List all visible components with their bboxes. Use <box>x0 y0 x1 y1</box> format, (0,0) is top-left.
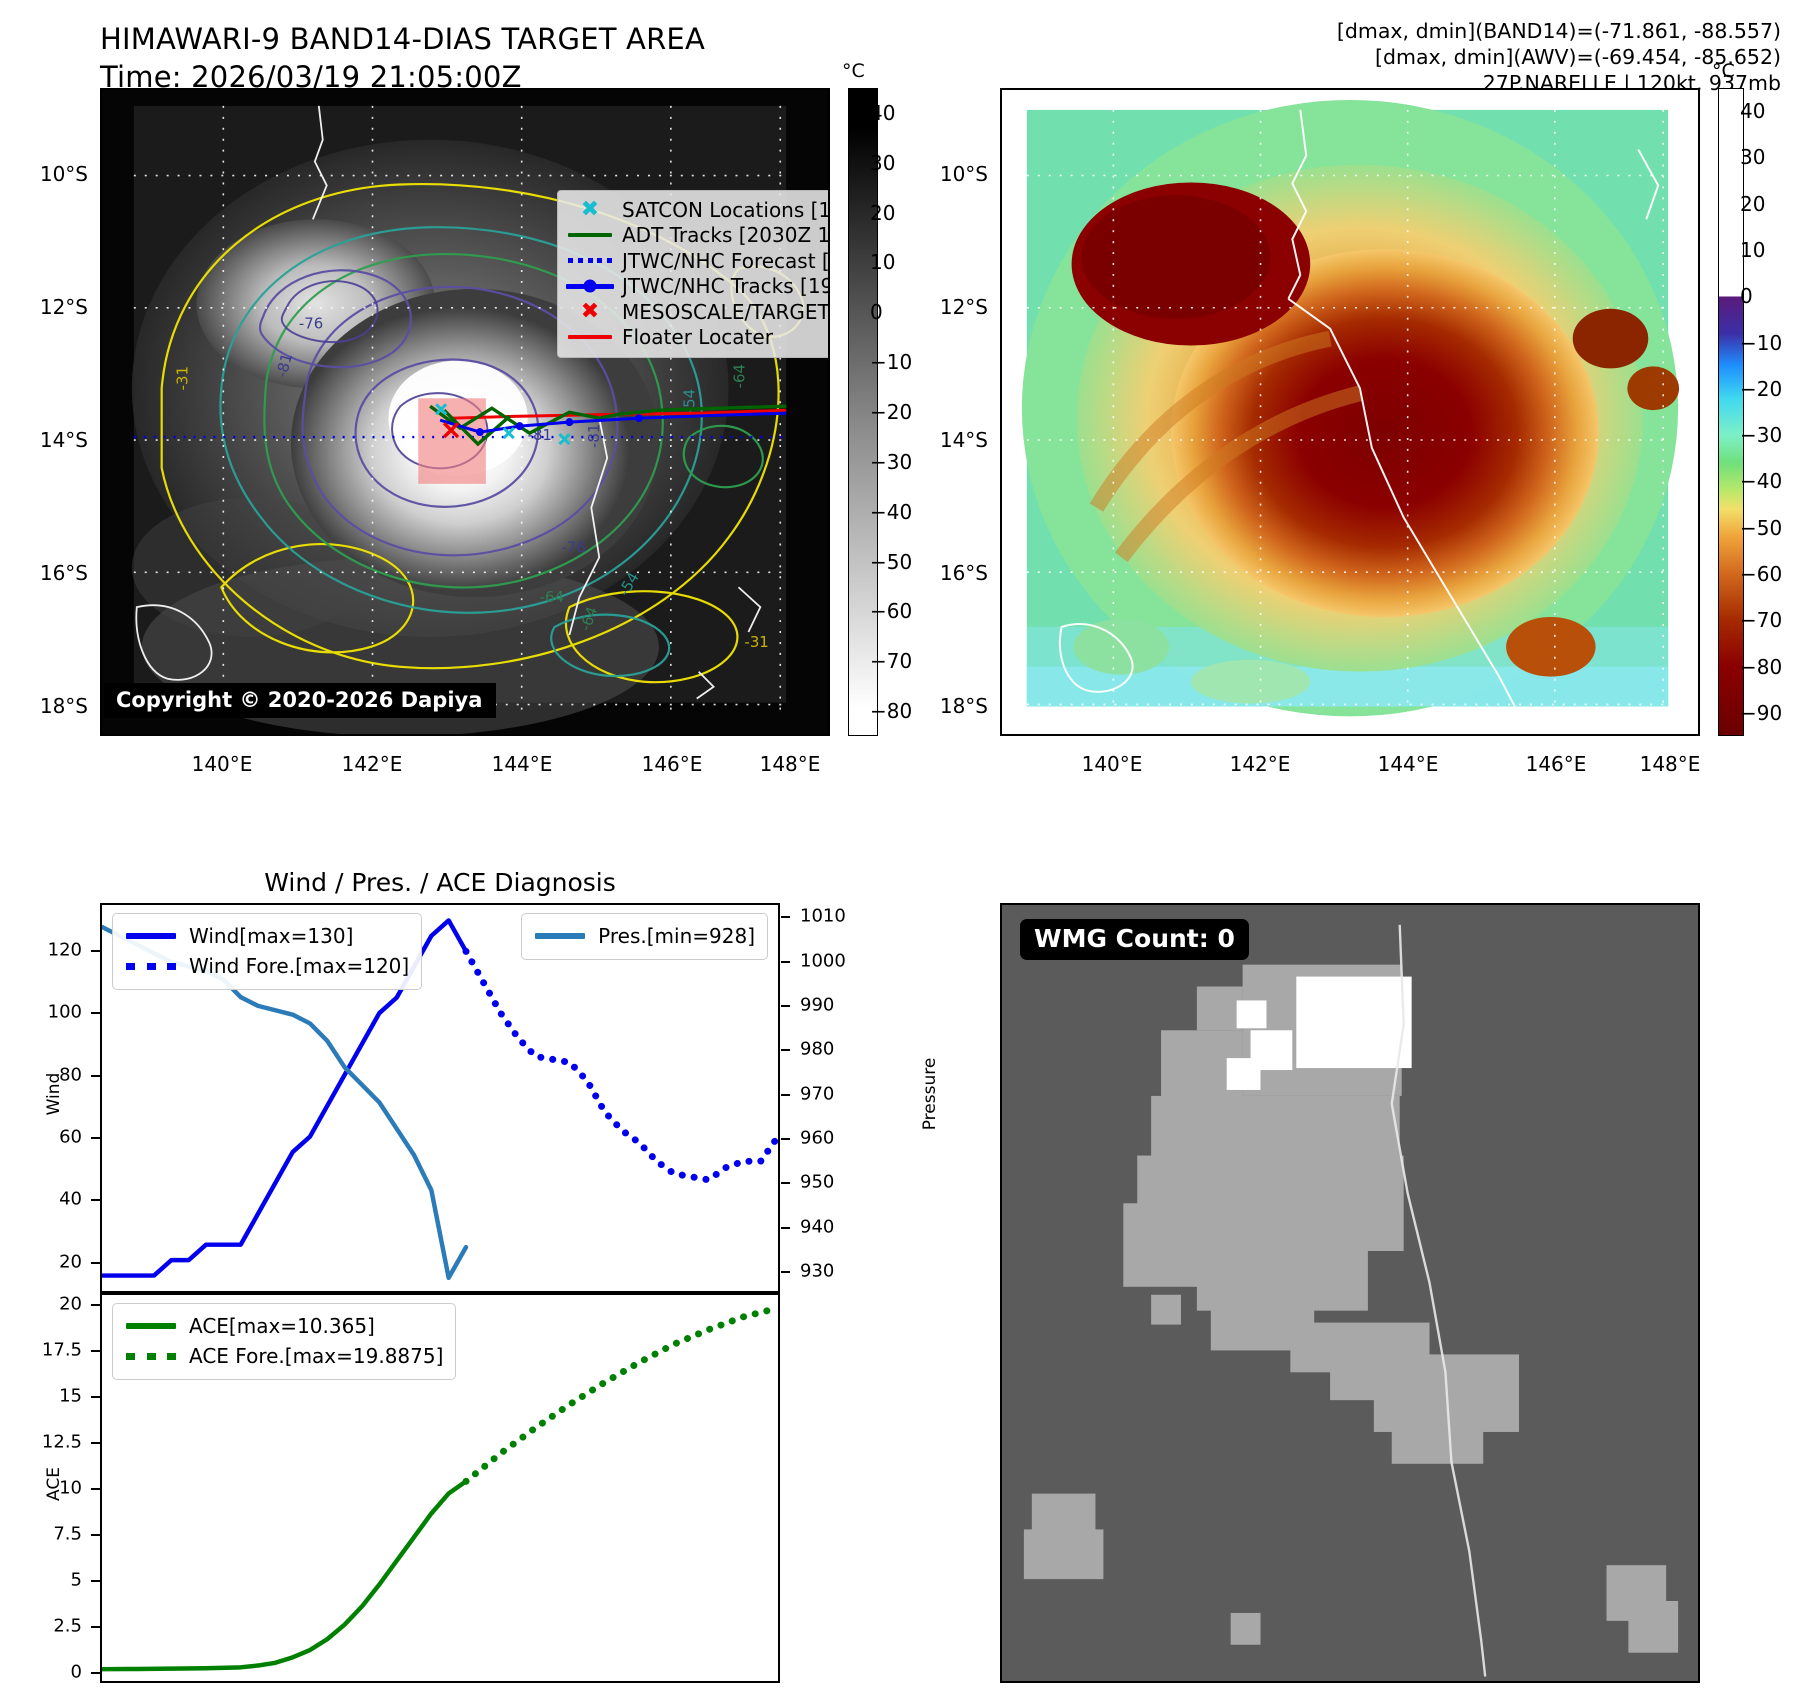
bd-lat-label: 16°S <box>900 561 988 585</box>
legend-label: JTWC/NHC Forecast [19/1800Z] <box>622 249 830 273</box>
legend-label: ACE Fore.[max=19.8875] <box>189 1344 443 1368</box>
colorbar-tick-label: −70 <box>870 649 912 673</box>
colorbar-tick-label: 30 <box>1740 145 1765 169</box>
bd-map-image <box>1002 90 1698 734</box>
bd-colorbar-unit: °C <box>1712 60 1735 82</box>
chart-tick-mark <box>91 1199 100 1201</box>
track-line-marker-icon <box>566 284 614 289</box>
title-line-1: HIMAWARI-9 BAND14-DIAS TARGET AREA <box>100 20 705 58</box>
series-windforemax <box>466 951 778 1180</box>
wind-line-icon <box>123 933 179 939</box>
svg-text:-76: -76 <box>299 315 323 333</box>
colorbar-tick-label: 0 <box>870 300 883 324</box>
svg-text:-64: -64 <box>730 364 748 388</box>
legend-item-jtwc-forecast: JTWC/NHC Forecast [19/1800Z] <box>566 248 830 274</box>
ace-legend: ACE[max=10.365] ACE Fore.[max=19.8875] <box>112 1303 456 1380</box>
ir-map-image: -76 -81 -81 -81 -76 -64 -64 -64 -54 -54 … <box>102 90 828 734</box>
bd-colorbar: °C 403020100−10−20−30−40−50−60−70−80−90 <box>1718 88 1744 736</box>
ir-lat-label: 12°S <box>0 295 88 319</box>
chart-tick-label: 60 <box>12 1127 82 1148</box>
colorbar-tick-label: −80 <box>1740 655 1782 679</box>
chart-tick-label: 5 <box>12 1569 82 1590</box>
legend-item-jtwc-tracks: JTWC/NHC Tracks [19/1800Z] <box>566 274 830 300</box>
chart-tick-label: 970 <box>800 1083 834 1104</box>
svg-text:-31: -31 <box>744 633 768 651</box>
chart-tick-label: 990 <box>800 994 834 1015</box>
chart-tick-mark <box>91 1626 100 1628</box>
colorbar-tick-label: −10 <box>1740 331 1782 355</box>
ace-line-icon <box>123 1323 179 1329</box>
chart-tick-label: 17.5 <box>12 1340 82 1361</box>
ir-lon-label: 146°E <box>642 752 703 776</box>
bd-lon-label: 146°E <box>1526 752 1587 776</box>
ir-lon-label: 140°E <box>192 752 253 776</box>
bd-lon-label: 140°E <box>1082 752 1143 776</box>
ir-lon-label: 142°E <box>342 752 403 776</box>
chart-tick-mark <box>91 1580 100 1582</box>
legend-label: ADT Tracks [2030Z 127.0 931.1] <box>622 223 830 247</box>
chart-tick-label: 950 <box>800 1172 834 1193</box>
chart-tick-mark <box>781 1049 790 1051</box>
legend-item-mesoscale: ✖ MESOSCALE/TARGET Location <box>566 299 830 325</box>
chart-tick-label: 100 <box>12 1002 82 1023</box>
ace-chart[interactable]: ACE[max=10.365] ACE Fore.[max=19.8875] <box>100 1293 780 1683</box>
svg-text:-31: -31 <box>174 366 192 390</box>
header-annotations: [dmax, dmin](BAND14)=(-71.861, -88.557) … <box>1337 18 1781 96</box>
forecast-dotted-icon <box>566 258 614 263</box>
colorbar-tick-label: −30 <box>1740 423 1782 447</box>
chart-tick-label: 80 <box>12 1064 82 1085</box>
chart-tick-mark <box>781 916 790 918</box>
ir-lat-label: 18°S <box>0 694 88 718</box>
chart-tick-label: 120 <box>12 939 82 960</box>
legend-item-satcon: ✖ SATCON Locations [1800Z 135 929] <box>566 197 830 223</box>
chart-tick-mark <box>91 1672 100 1674</box>
colorbar-tick-label: 10 <box>1740 238 1765 262</box>
chart-tick-mark <box>91 950 100 952</box>
chart-tick-mark <box>91 1304 100 1306</box>
colorbar-tick-label: 30 <box>870 151 895 175</box>
diagnosis-chart-title: Wind / Pres. / ACE Diagnosis <box>100 868 780 897</box>
chart-tick-mark <box>91 1075 100 1077</box>
wmg-count-panel[interactable]: WMG Count: 0 <box>1000 903 1700 1683</box>
legend-label: Wind Fore.[max=120] <box>189 954 409 978</box>
legend-item-ace-forecast: ACE Fore.[max=19.8875] <box>123 1341 443 1371</box>
chart-tick-mark <box>91 1012 100 1014</box>
legend-item-wind-forecast: Wind Fore.[max=120] <box>123 951 409 981</box>
legend-item-floater: Floater Locater <box>566 325 830 351</box>
ir-lon-label: 148°E <box>760 752 821 776</box>
colorbar-tick-label: −20 <box>1740 377 1782 401</box>
colorbar-tick-label: 40 <box>1740 99 1765 123</box>
chart-tick-mark <box>781 1005 790 1007</box>
chart-tick-mark <box>91 1350 100 1352</box>
legend-label: SATCON Locations [1800Z 135 929] <box>622 198 830 222</box>
page-title: HIMAWARI-9 BAND14-DIAS TARGET AREA Time:… <box>100 20 705 96</box>
bd-lon-label: 148°E <box>1640 752 1701 776</box>
satcon-marker-icon: ✖ <box>566 199 614 221</box>
bd-lon-label: 142°E <box>1230 752 1291 776</box>
chart-tick-label: 20 <box>12 1251 82 1272</box>
copyright-notice: Copyright © 2020-2026 Dapiya <box>104 683 496 718</box>
colorbar-tick-label: −40 <box>870 500 912 524</box>
colorbar-tick-label: −10 <box>870 350 912 374</box>
series-acemax <box>102 1481 466 1669</box>
chart-tick-label: 960 <box>800 1127 834 1148</box>
svg-text:-81: -81 <box>585 424 603 448</box>
chart-tick-mark <box>781 1182 790 1184</box>
chart-tick-mark <box>781 1271 790 1273</box>
legend-item-wind: Wind[max=130] <box>123 921 409 951</box>
series-aceforemax <box>466 1308 778 1481</box>
bd-lat-label: 18°S <box>900 694 988 718</box>
bd-lat-label: 12°S <box>900 295 988 319</box>
ir-lat-label: 14°S <box>0 428 88 452</box>
chart-tick-mark <box>91 1396 100 1398</box>
wind-legend: Wind[max=130] Wind Fore.[max=120] <box>112 913 422 990</box>
colorbar-tick-label: −60 <box>870 599 912 623</box>
mesoscale-marker-icon: ✖ <box>566 301 614 323</box>
chart-tick-mark <box>91 1262 100 1264</box>
chart-tick-label: 15 <box>12 1386 82 1407</box>
chart-tick-label: 10 <box>12 1478 82 1499</box>
colorbar-tick-label: −30 <box>870 450 912 474</box>
chart-tick-label: 0 <box>12 1661 82 1682</box>
bd-enhanced-panel[interactable] <box>1000 88 1700 736</box>
wind-pressure-chart[interactable]: Wind[max=130] Wind Fore.[max=120] Pres.[… <box>100 903 780 1293</box>
chart-tick-label: 1000 <box>800 950 846 971</box>
ir-lat-label: 16°S <box>0 561 88 585</box>
legend-item-adt: ADT Tracks [2030Z 127.0 931.1] <box>566 223 830 249</box>
ir-satellite-panel[interactable]: -76 -81 -81 -81 -76 -64 -64 -64 -54 -54 … <box>100 88 830 736</box>
colorbar-tick-label: −70 <box>1740 608 1782 632</box>
pressure-line-icon <box>532 933 588 939</box>
bd-lat-label: 10°S <box>900 162 988 186</box>
bd-colorbar-gradient <box>1718 88 1744 736</box>
colorbar-tick-label: −60 <box>1740 562 1782 586</box>
wmg-map-image <box>1002 905 1698 1681</box>
chart-tick-mark <box>781 1138 790 1140</box>
ir-lat-label: 10°S <box>0 162 88 186</box>
colorbar-tick-label: −90 <box>1740 701 1782 725</box>
bd-lat-label: 14°S <box>900 428 988 452</box>
legend-label: JTWC/NHC Tracks [19/1800Z] <box>622 274 830 298</box>
chart-tick-label: 980 <box>800 1039 834 1060</box>
chart-tick-mark <box>781 1094 790 1096</box>
svg-text:-64: -64 <box>540 588 564 606</box>
chart-tick-label: 7.5 <box>12 1523 82 1544</box>
chart-tick-label: 940 <box>800 1216 834 1237</box>
colorbar-tick-label: 0 <box>1740 284 1753 308</box>
wind-forecast-dotted-icon <box>123 963 179 969</box>
ir-lon-label: 144°E <box>492 752 553 776</box>
wmg-count-badge: WMG Count: 0 <box>1020 919 1249 960</box>
legend-item-pressure: Pres.[min=928] <box>532 921 755 951</box>
chart-tick-mark <box>91 1442 100 1444</box>
colorbar-tick-label: −20 <box>870 400 912 424</box>
chart-tick-label: 1010 <box>800 906 846 927</box>
legend-label: Wind[max=130] <box>189 924 353 948</box>
legend-item-ace: ACE[max=10.365] <box>123 1311 443 1341</box>
pressure-axis-label: Pressure <box>920 1034 940 1154</box>
colorbar-tick-label: 10 <box>870 250 895 274</box>
legend-label: MESOSCALE/TARGET Location <box>622 300 830 324</box>
chart-tick-label: 40 <box>12 1189 82 1210</box>
colorbar-tick-label: 20 <box>870 201 895 225</box>
adt-line-icon <box>566 233 614 237</box>
chart-tick-label: 12.5 <box>12 1432 82 1453</box>
legend-label: ACE[max=10.365] <box>189 1314 375 1338</box>
chart-tick-label: 2.5 <box>12 1615 82 1636</box>
dmax-dmin-band14: [dmax, dmin](BAND14)=(-71.861, -88.557) <box>1337 18 1781 44</box>
chart-tick-label: 930 <box>800 1260 834 1281</box>
chart-tick-mark <box>91 1534 100 1536</box>
chart-tick-mark <box>91 1137 100 1139</box>
legend-label: Floater Locater <box>622 325 773 349</box>
legend-label: Pres.[min=928] <box>598 924 755 948</box>
bd-lon-label: 144°E <box>1378 752 1439 776</box>
ir-colorbar-unit: °C <box>842 60 865 82</box>
ace-forecast-dotted-icon <box>123 1353 179 1359</box>
ir-map-legend: ✖ SATCON Locations [1800Z 135 929] ADT T… <box>557 190 830 358</box>
colorbar-tick-label: 40 <box>870 101 895 125</box>
colorbar-tick-label: 20 <box>1740 192 1765 216</box>
colorbar-tick-label: −40 <box>1740 469 1782 493</box>
ir-colorbar: °C 403020100−10−20−30−40−50−60−70−80 <box>848 88 878 736</box>
svg-text:-76: -76 <box>561 538 585 556</box>
chart-tick-mark <box>91 1488 100 1490</box>
chart-tick-mark <box>781 961 790 963</box>
floater-line-icon <box>566 335 614 339</box>
pressure-legend: Pres.[min=928] <box>521 913 768 960</box>
chart-tick-mark <box>781 1227 790 1229</box>
chart-tick-label: 20 <box>12 1294 82 1315</box>
colorbar-tick-label: −50 <box>1740 516 1782 540</box>
